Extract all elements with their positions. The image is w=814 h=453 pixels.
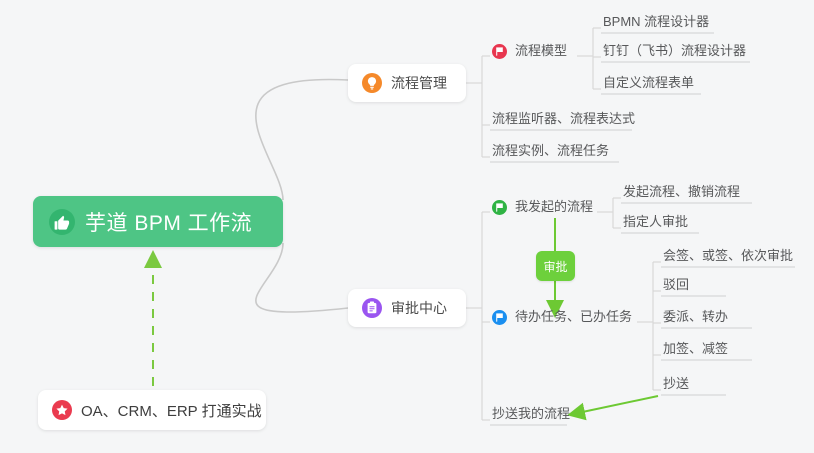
node-instance-task[interactable]: 流程实例、流程任务 — [486, 142, 615, 164]
node-listener-expression[interactable]: 流程监听器、流程表达式 — [486, 110, 641, 132]
integration-card-label: OA、CRM、ERP 打通实战 — [81, 400, 262, 421]
node-label-instance-task: 流程实例、流程任务 — [492, 142, 609, 160]
node-label-assignee-approve: 指定人审批 — [623, 213, 688, 231]
branch-label-approval-center: 审批中心 — [391, 298, 447, 318]
node-label-bpmn-designer: BPMN 流程设计器 — [603, 13, 709, 31]
node-label-delegate-transfer: 委派、转办 — [663, 308, 728, 326]
node-label-process-model: 流程模型 — [515, 42, 567, 60]
node-cc[interactable]: 抄送 — [657, 375, 695, 397]
edge-root-to-process-management — [256, 79, 348, 200]
node-label-add-remove-sign: 加签、减签 — [663, 340, 728, 358]
node-add-remove-sign[interactable]: 加签、减签 — [657, 340, 734, 362]
approve-flow-badge-label: 审批 — [543, 258, 567, 275]
node-bpmn-designer[interactable]: BPMN 流程设计器 — [597, 13, 715, 35]
flag-icon — [492, 310, 507, 325]
star-icon — [52, 400, 72, 420]
flag-icon — [492, 200, 507, 215]
node-label-custom-form: 自定义流程表单 — [603, 74, 694, 92]
flag-icon — [492, 44, 507, 59]
approve-flow-badge: 审批 — [536, 251, 575, 281]
branch-node-approval-center[interactable]: 审批中心 — [348, 289, 466, 327]
node-label-cc-to-me: 抄送我的流程 — [492, 405, 570, 423]
node-process-model[interactable]: 流程模型 — [486, 42, 573, 63]
node-cc-to-me[interactable]: 抄送我的流程 — [486, 405, 576, 427]
node-label-reject: 驳回 — [663, 276, 689, 294]
clipboard-icon — [362, 298, 382, 318]
node-label-my-started-processes: 我发起的流程 — [515, 198, 593, 216]
edge-cc-to-cc-my-process-arrow — [573, 396, 658, 414]
branch-node-process-management[interactable]: 流程管理 — [348, 64, 466, 102]
node-countersign[interactable]: 会签、或签、依次审批 — [657, 247, 799, 269]
node-label-listener-expression: 流程监听器、流程表达式 — [492, 110, 635, 128]
node-start-cancel-process[interactable]: 发起流程、撤销流程 — [617, 183, 746, 205]
node-label-cc: 抄送 — [663, 375, 689, 393]
node-label-countersign: 会签、或签、依次审批 — [663, 247, 793, 265]
edge-root-to-approval-center — [256, 243, 348, 312]
branch-label-process-management: 流程管理 — [391, 73, 447, 93]
node-label-start-cancel-process: 发起流程、撤销流程 — [623, 183, 740, 201]
lightbulb-icon — [362, 73, 382, 93]
thumbs-up-icon — [49, 209, 75, 235]
node-todo-done-tasks[interactable]: 待办任务、已办任务 — [486, 308, 638, 329]
node-label-dingtalk-designer: 钉钉（飞书）流程设计器 — [603, 42, 746, 60]
node-assignee-approve[interactable]: 指定人审批 — [617, 213, 694, 235]
node-label-todo-done-tasks: 待办任务、已办任务 — [515, 308, 632, 326]
root-label: 芋道 BPM 工作流 — [85, 207, 252, 237]
mindmap-canvas: 芋道 BPM 工作流 流程管理 流程模型 流程监听器、流程表达式 流程实例、流程… — [0, 0, 814, 453]
integration-card[interactable]: OA、CRM、ERP 打通实战 — [38, 390, 266, 430]
node-delegate-transfer[interactable]: 委派、转办 — [657, 308, 734, 330]
node-my-started-processes[interactable]: 我发起的流程 — [486, 198, 599, 219]
node-custom-form[interactable]: 自定义流程表单 — [597, 74, 700, 96]
node-dingtalk-designer[interactable]: 钉钉（飞书）流程设计器 — [597, 42, 752, 64]
root-node[interactable]: 芋道 BPM 工作流 — [33, 196, 283, 247]
node-reject[interactable]: 驳回 — [657, 276, 695, 298]
